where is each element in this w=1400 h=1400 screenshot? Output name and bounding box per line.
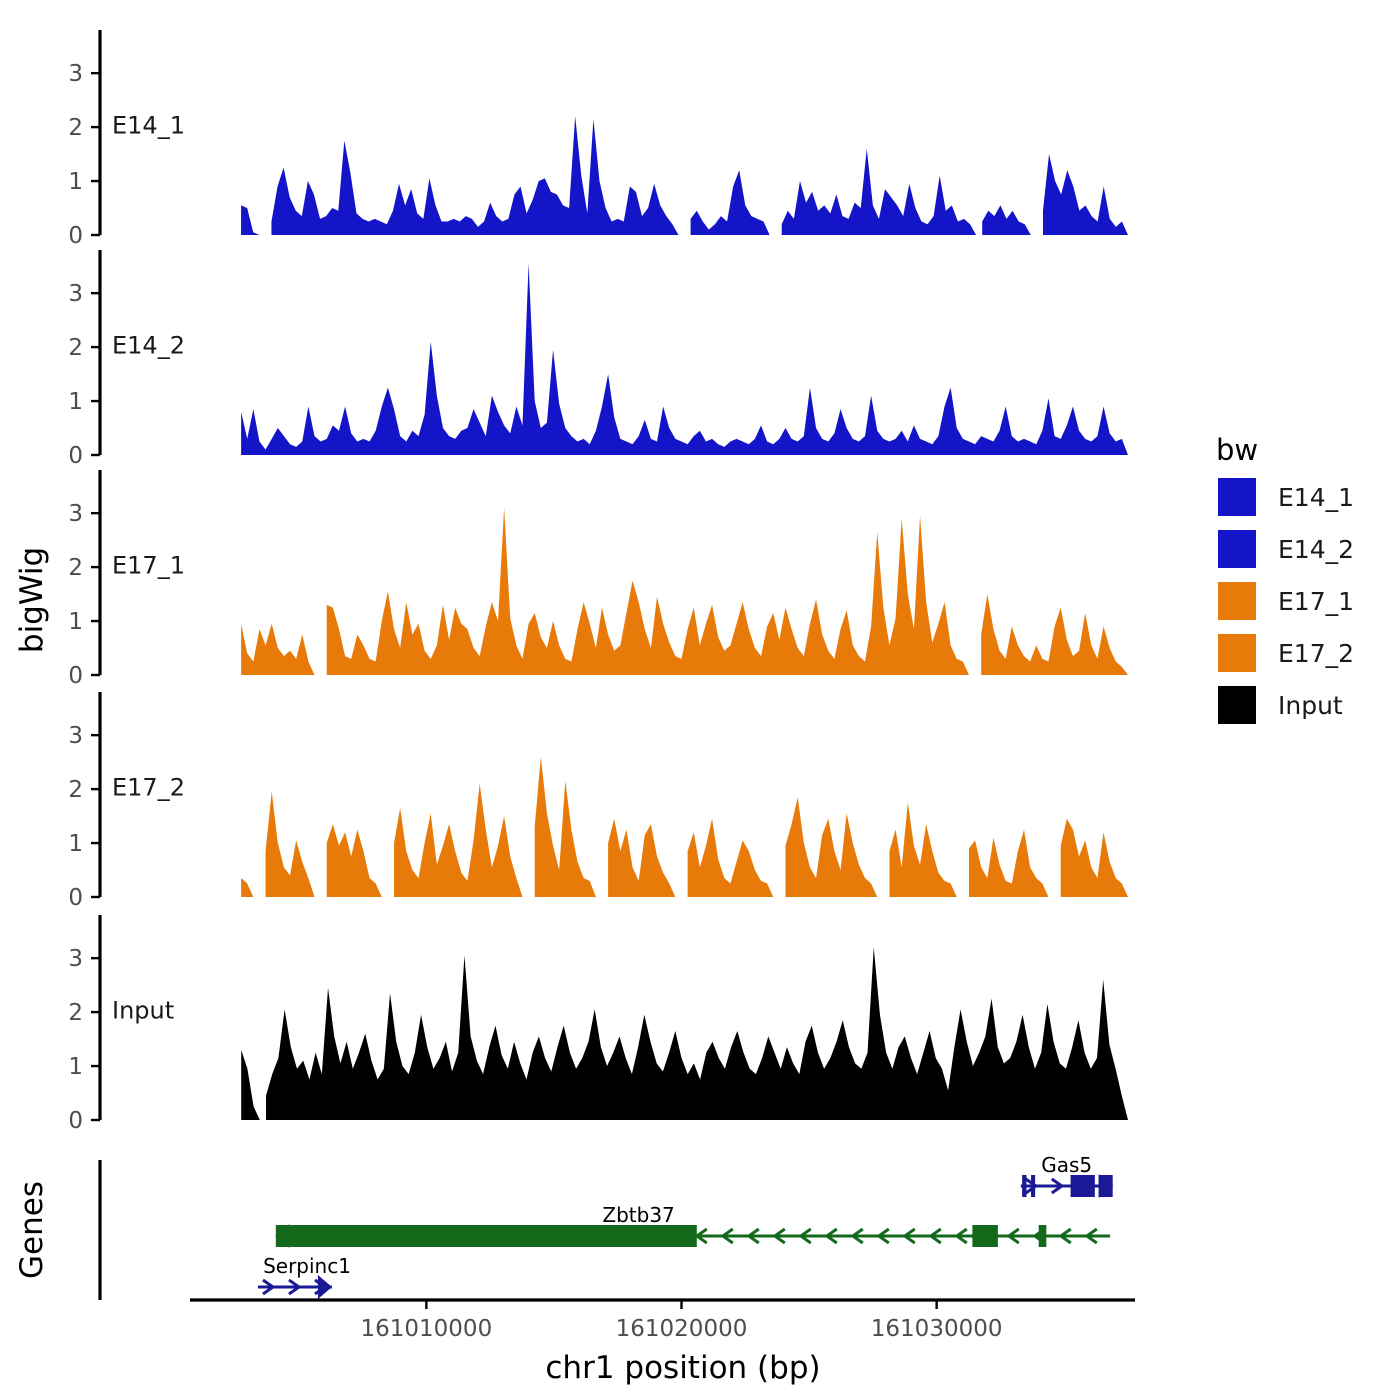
y-tick-label: 0 xyxy=(68,1108,83,1134)
y-tick-label: 2 xyxy=(68,1000,83,1026)
y-axis-title: bigWig xyxy=(14,547,50,653)
gene-exon xyxy=(276,1225,697,1247)
y-tick-label: 1 xyxy=(68,609,83,635)
y-tick-label: 2 xyxy=(68,555,83,581)
track-e17_2: 0123E17_2 xyxy=(68,692,1128,911)
x-axis: 161010000161020000161030000 xyxy=(190,1300,1135,1342)
gene-label: Zbtb37 xyxy=(602,1203,674,1227)
genes-axis-title: Genes xyxy=(14,1181,50,1279)
x-tick-label: 161020000 xyxy=(616,1316,748,1342)
gene-exon xyxy=(1022,1175,1026,1197)
y-tick-label: 0 xyxy=(68,223,83,249)
track-label-e14_1: E14_1 xyxy=(112,112,185,140)
x-tick-label: 161010000 xyxy=(361,1316,493,1342)
genes-panel: Gas5Zbtb37Serpinc1 xyxy=(100,1153,1113,1300)
track-label-input: Input xyxy=(112,997,174,1025)
track-e14_2: 0123E14_2 xyxy=(68,250,1128,469)
signal-area xyxy=(241,116,1128,235)
signal-area xyxy=(241,508,1128,675)
y-tick-label: 0 xyxy=(68,663,83,689)
track-e17_1: 0123E17_1 xyxy=(68,470,1128,689)
y-tick-label: 0 xyxy=(68,443,83,469)
y-tick-label: 2 xyxy=(68,115,83,141)
gene-zbtb37[interactable]: Zbtb37 xyxy=(276,1203,1110,1248)
legend: bwE14_1E14_2E17_1E17_2Input xyxy=(1216,433,1354,724)
y-tick-label: 3 xyxy=(68,946,83,972)
track-panels: 0123E14_10123E14_20123E17_10123E17_20123… xyxy=(68,30,1128,1134)
legend-swatch-e17_2[interactable] xyxy=(1218,634,1256,672)
legend-title: bw xyxy=(1216,433,1258,467)
legend-label-e17_1: E17_1 xyxy=(1278,587,1354,616)
track-label-e17_2: E17_2 xyxy=(112,774,185,802)
legend-label-e14_1: E14_1 xyxy=(1278,483,1354,512)
legend-swatch-input[interactable] xyxy=(1218,686,1256,724)
gene-exon xyxy=(1039,1225,1047,1247)
gene-exon xyxy=(1031,1175,1035,1197)
track-label-e17_1: E17_1 xyxy=(112,552,185,580)
y-tick-label: 3 xyxy=(68,501,83,527)
track-e14_1: 0123E14_1 xyxy=(68,30,1128,249)
y-tick-label: 2 xyxy=(68,777,83,803)
legend-label-e17_2: E17_2 xyxy=(1278,639,1354,668)
track-input: 0123Input xyxy=(68,915,1128,1134)
y-tick-label: 3 xyxy=(68,281,83,307)
gene-arrowhead xyxy=(318,1275,332,1299)
track-label-e14_2: E14_2 xyxy=(112,332,185,360)
y-tick-label: 3 xyxy=(68,61,83,87)
x-tick-label: 161030000 xyxy=(871,1316,1003,1342)
gene-exon xyxy=(972,1225,998,1247)
signal-area xyxy=(241,263,1128,455)
signal-area xyxy=(241,757,1128,897)
y-tick-label: 0 xyxy=(68,885,83,911)
y-tick-label: 1 xyxy=(68,1054,83,1080)
gene-exon xyxy=(1071,1175,1095,1197)
signal-area xyxy=(241,947,1128,1120)
legend-label-e14_2: E14_2 xyxy=(1278,535,1354,564)
y-tick-label: 3 xyxy=(68,723,83,749)
genome-browser-figure: 0123E14_10123E14_20123E17_10123E17_20123… xyxy=(0,0,1400,1400)
x-axis-title: chr1 position (bp) xyxy=(545,1350,820,1386)
legend-label-input: Input xyxy=(1278,691,1343,720)
y-tick-label: 1 xyxy=(68,831,83,857)
y-tick-label: 2 xyxy=(68,335,83,361)
legend-swatch-e14_1[interactable] xyxy=(1218,478,1256,516)
legend-swatch-e17_1[interactable] xyxy=(1218,582,1256,620)
gene-label: Gas5 xyxy=(1041,1153,1092,1177)
gene-gas5[interactable]: Gas5 xyxy=(1021,1153,1113,1198)
legend-swatch-e14_2[interactable] xyxy=(1218,530,1256,568)
y-tick-label: 1 xyxy=(68,389,83,415)
gene-label: Serpinc1 xyxy=(263,1254,351,1278)
figure-svg: 0123E14_10123E14_20123E17_10123E17_20123… xyxy=(0,0,1400,1400)
y-tick-label: 1 xyxy=(68,169,83,195)
gene-serpinc1[interactable]: Serpinc1 xyxy=(258,1254,351,1299)
